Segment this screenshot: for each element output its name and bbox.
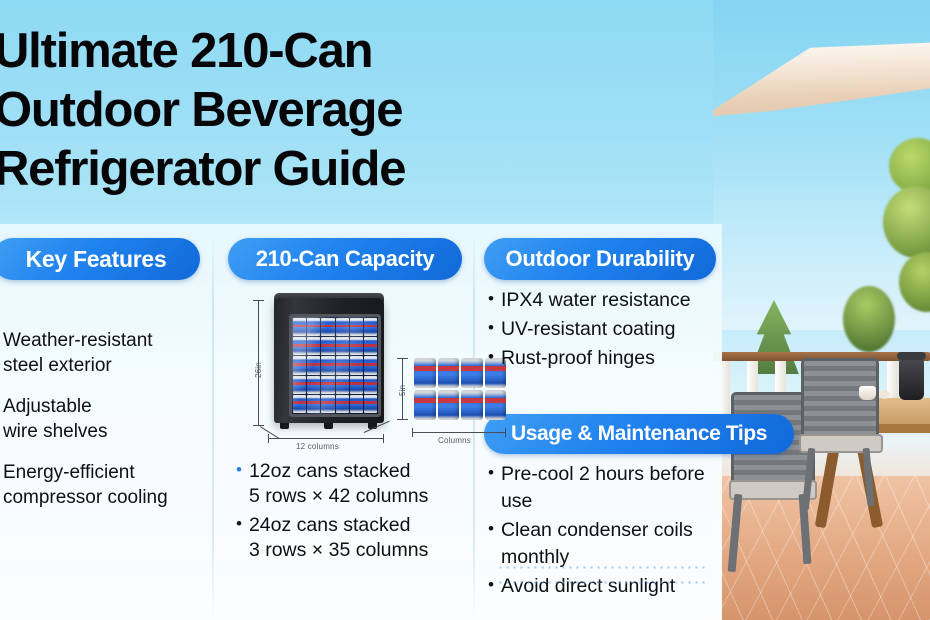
list-item-label: UV-resistant coating	[501, 315, 676, 344]
list-item: • Adjustable wire shelves	[0, 394, 220, 444]
list-item: • UV-resistant coating	[488, 315, 728, 344]
infographic-canvas: Ultimate 210-Can Outdoor Beverage Refrig…	[0, 0, 930, 620]
list-item: • 12oz cans stacked 5 rows × 42 columns	[236, 459, 476, 509]
list-item-label: Pre-cool 2 hours before use	[501, 461, 724, 515]
list-item-label: Rust-proof hinges	[501, 344, 655, 373]
dim-label-pack-height: 5in	[398, 385, 407, 396]
list-item: • IPX4 water resistance	[488, 286, 728, 315]
capacity-diagram: 26in 12 columns 5in Columns	[236, 286, 466, 456]
capacity-list: • 12oz cans stacked 5 rows × 42 columns …	[236, 459, 476, 567]
title-line-1: Ultimate 210-Can	[0, 22, 514, 81]
bullet-icon: •	[236, 515, 242, 532]
list-item: • Pre-cool 2 hours before use	[488, 461, 724, 515]
list-item-label: Avoid direct sunlight	[501, 573, 675, 600]
list-item-label: 12oz cans stacked 5 rows × 42 columns	[249, 459, 428, 509]
dim-label-pack-width: Columns	[438, 436, 471, 445]
dim-label-fridge-height: 26in	[254, 362, 263, 378]
dim-label-fridge-width: 12 columns	[296, 442, 339, 451]
durability-list: • IPX4 water resistance • UV-resistant c…	[488, 286, 728, 373]
list-item-label: Energy-efficient compressor cooling	[3, 460, 168, 510]
title-line-2: Outdoor Beverage	[0, 81, 514, 140]
list-item: • Rust-proof hinges	[488, 344, 728, 373]
bullet-icon: •	[488, 520, 494, 537]
coffee-cup-icon	[859, 386, 876, 400]
list-item-label: Clean condenser coils monthly	[501, 517, 693, 571]
key-features-list: • Weather-resistant steel exterior • Adj…	[0, 328, 220, 526]
badge-outdoor-durability: Outdoor Durability	[484, 238, 716, 280]
carafe-lid-icon	[897, 352, 926, 360]
badge-usage-maintenance-tips: Usage & Maintenance Tips	[484, 414, 794, 454]
page-title: Ultimate 210-Can Outdoor Beverage Refrig…	[0, 22, 514, 199]
list-item: • Clean condenser coils monthly	[488, 517, 724, 571]
bullet-icon: •	[236, 461, 242, 478]
bullet-icon: •	[488, 464, 494, 481]
saucer-icon	[879, 390, 890, 399]
foliage-icon	[843, 286, 895, 352]
carafe-icon	[899, 358, 924, 400]
list-item-label: Adjustable wire shelves	[3, 394, 108, 444]
badge-capacity: 210-Can Capacity	[228, 238, 462, 280]
list-item: • Avoid direct sunlight	[488, 573, 724, 600]
fridge-glass-door	[289, 314, 381, 417]
bullet-icon: •	[488, 576, 494, 593]
placeholder-text-line	[497, 581, 709, 584]
list-item-label: IPX4 water resistance	[501, 286, 691, 315]
bullet-icon: •	[488, 319, 494, 336]
bullet-icon: •	[488, 348, 494, 365]
glass-reflection	[292, 317, 378, 414]
list-item-label: Weather-resistant steel exterior	[3, 328, 153, 378]
list-item: • Weather-resistant steel exterior	[0, 328, 220, 378]
title-line-3: Refrigerator Guide	[0, 140, 514, 199]
patio-photo	[713, 0, 930, 620]
bullet-icon: •	[488, 290, 494, 307]
badge-key-features: Key Features	[0, 238, 200, 280]
list-item: • Energy-efficient compressor cooling	[0, 460, 220, 510]
placeholder-text-line	[497, 566, 709, 569]
list-item-label: 24oz cans stacked 3 rows × 35 columns	[249, 513, 428, 563]
list-item: • 24oz cans stacked 3 rows × 35 columns	[236, 513, 476, 563]
